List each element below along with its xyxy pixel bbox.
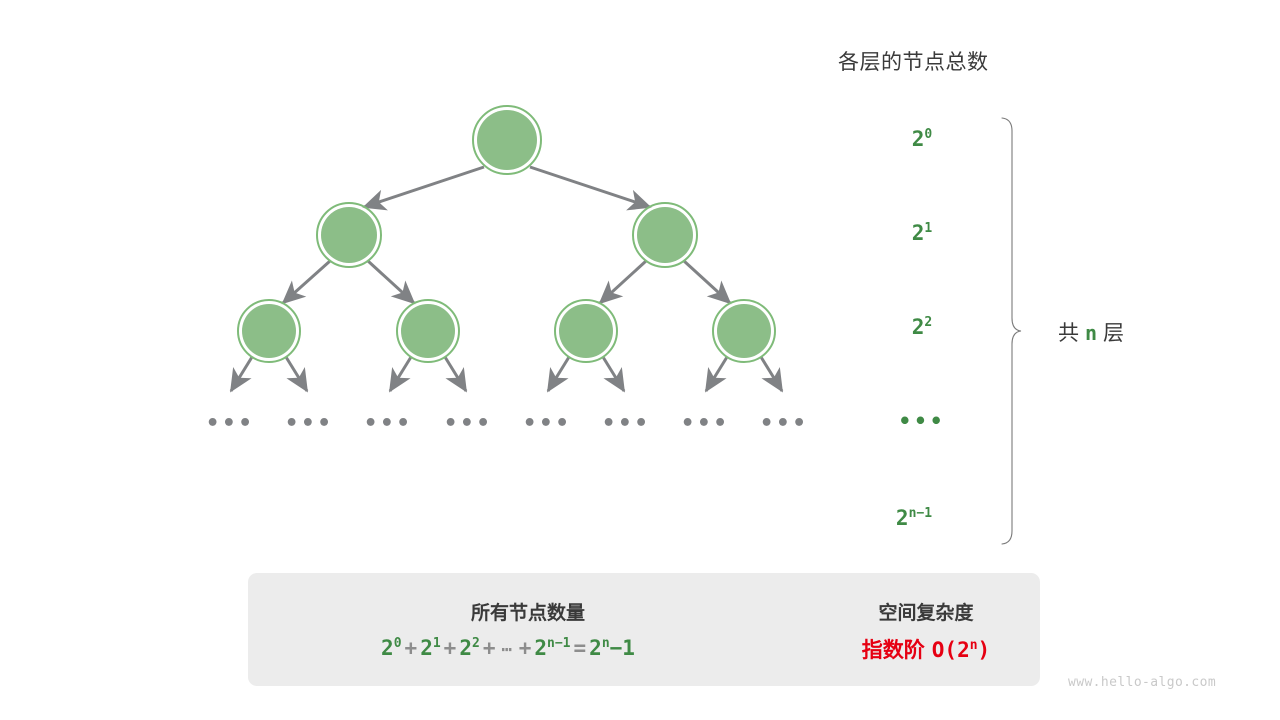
tree-node-l2-c (555, 300, 617, 362)
tree-node-l2-b (397, 300, 459, 362)
level-2-base: 2 (912, 315, 925, 339)
edge-root-left (364, 167, 484, 207)
edge-l2c-right (603, 357, 624, 391)
formula-plus-0: + (402, 636, 421, 660)
space-complexity-heading: 空间复杂度 (838, 598, 1014, 625)
tree-ellipsis-2: ••• (285, 411, 331, 436)
space-complexity-value: 指数阶O(2n) (828, 634, 1024, 664)
complexity-notation: O(2n) (925, 638, 990, 662)
formula-term-last: 2n−1 (534, 636, 570, 660)
level-label-last: 2n−1 (879, 506, 949, 530)
all-nodes-heading: 所有节点数量 (408, 598, 648, 625)
formula-term-1: 21 (420, 636, 440, 660)
levels-title: 各层的节点总数 (838, 46, 989, 76)
diagram-canvas: 20 21 22 ••• 2n−1 各层的节点总数 共n层 ••• ••• ••… (0, 0, 1280, 720)
edge-l2a-right (286, 357, 307, 391)
level-0-base: 2 (912, 127, 925, 151)
edge-l2d-right (761, 357, 782, 391)
level-label-ellipsis: ••• (887, 409, 957, 433)
tree-nodes (238, 106, 775, 362)
level-label-1: 21 (887, 221, 957, 245)
edge-l1l-right (368, 261, 414, 303)
complexity-order-label: 指数阶 (862, 639, 925, 662)
formula-equals: = (571, 636, 590, 660)
level-1-exponent: 1 (924, 221, 932, 236)
level-label-2: 22 (887, 315, 957, 339)
tree-node-l2-a (238, 300, 300, 362)
total-layers-label: 共n层 (1058, 317, 1124, 347)
tree-ellipsis-5: ••• (523, 411, 569, 436)
edge-l1l-left (283, 261, 330, 303)
tree-ellipsis-8: ••• (760, 411, 806, 436)
tree-edges (231, 167, 782, 391)
tree-node-l2-d (713, 300, 775, 362)
tree-ellipsis-7: ••• (681, 411, 727, 436)
level-label-0: 20 (887, 127, 957, 151)
tree-ellipsis-1: ••• (206, 411, 252, 436)
level-1-base: 2 (912, 221, 925, 245)
tree-ellipsis-3: ••• (364, 411, 410, 436)
level-2-exponent: 2 (924, 315, 932, 330)
levels-brace (1002, 118, 1021, 544)
edge-root-right (530, 167, 650, 207)
watermark: www.hello-algo.com (1068, 675, 1216, 690)
total-layers-suffix: 层 (1103, 322, 1124, 345)
total-layers-prefix: 共 (1058, 322, 1079, 345)
level-last-base: 2 (896, 506, 909, 530)
formula-plus-2: + (480, 636, 499, 660)
node-count-formula: 20+21+22+⋯+2n−1=2n−1 (278, 636, 738, 660)
formula-ellipsis: ⋯ (498, 640, 515, 660)
edge-l1r-left (600, 261, 646, 303)
formula-result: 2n−1 (589, 636, 635, 660)
edge-l2b-left (390, 357, 411, 391)
formula-plus-3: + (516, 636, 535, 660)
edge-l2c-left (548, 357, 569, 391)
total-layers-variable: n (1079, 321, 1103, 345)
tree-node-root (473, 106, 541, 174)
edge-l2b-right (445, 357, 466, 391)
edge-l2a-left (231, 357, 252, 391)
formula-term-0: 20 (381, 636, 401, 660)
formula-term-2: 22 (459, 636, 479, 660)
level-last-exponent: n−1 (909, 506, 932, 521)
formula-plus-1: + (441, 636, 460, 660)
edge-l2d-left (706, 357, 727, 391)
tree-ellipsis-4: ••• (444, 411, 490, 436)
summary-panel (248, 573, 1040, 686)
tree-ellipsis-6: ••• (602, 411, 648, 436)
level-0-exponent: 0 (924, 127, 932, 142)
tree-node-l1-right (633, 203, 697, 267)
tree-node-l1-left (317, 203, 381, 267)
edge-l1r-right (684, 261, 730, 303)
